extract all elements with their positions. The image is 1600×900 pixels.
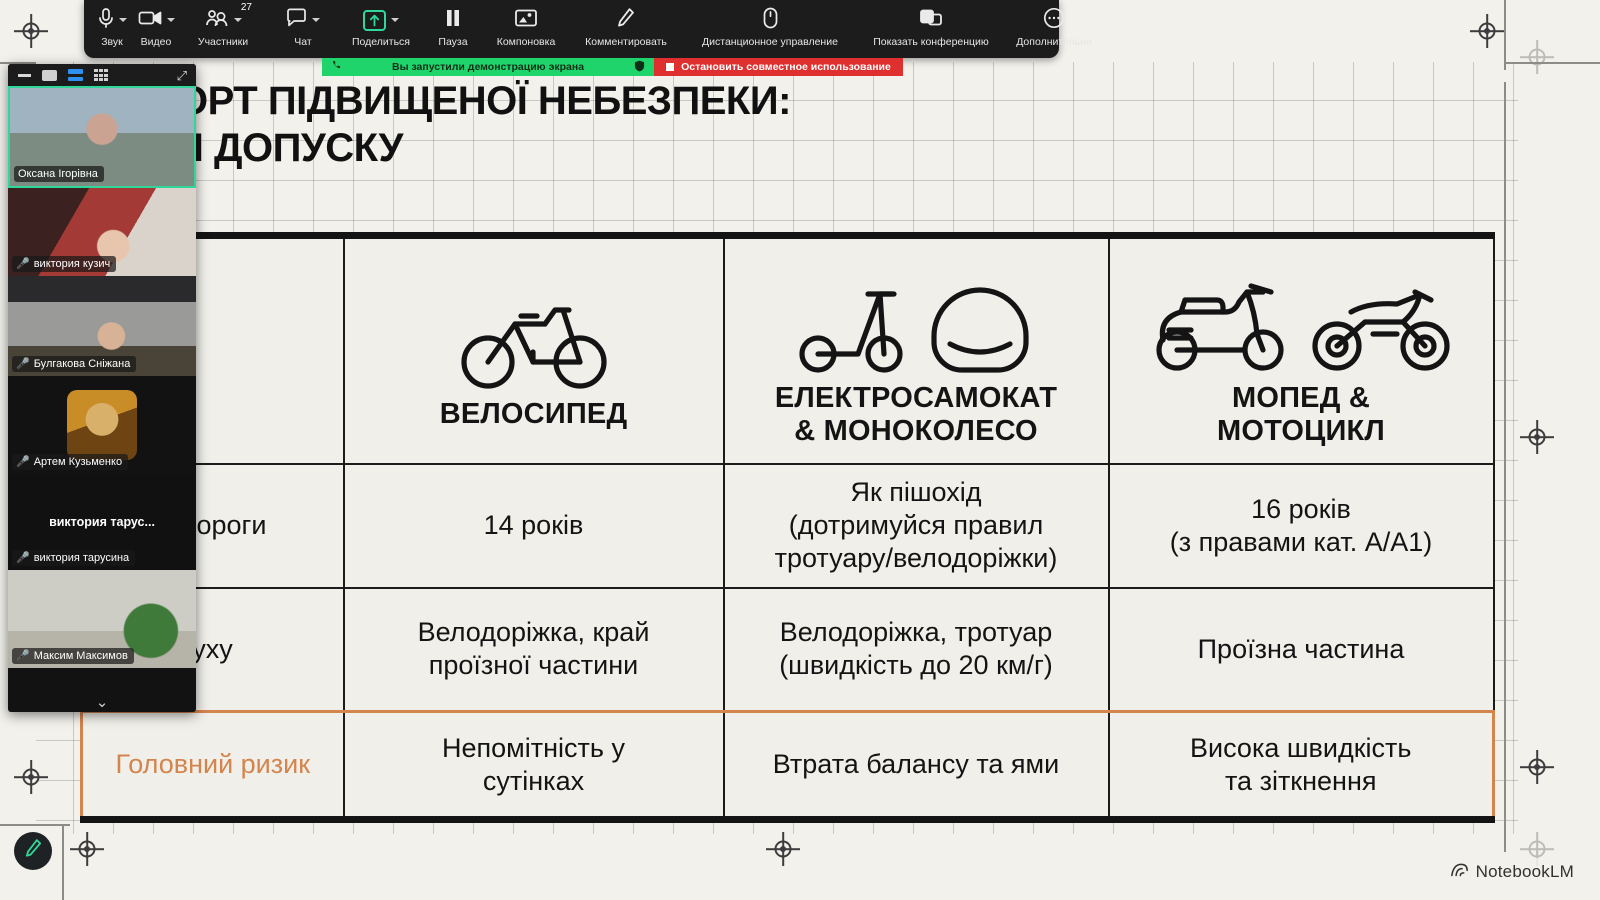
participant-name-chip: 🎤 виктория тарусина	[12, 550, 135, 566]
motorcycle-icon	[1311, 278, 1451, 374]
shared-screen-slide: НСПОРТ ПІДВИЩЕНОЇ НЕБЕЗПЕКИ: РИЦЯ ДОПУСК…	[0, 0, 1600, 900]
grid-view-icon[interactable]	[94, 69, 108, 81]
registration-mark-icon	[14, 760, 48, 794]
slide-rule	[1504, 0, 1506, 70]
meeting-toolbar: Звук Видео 27	[84, 0, 1059, 58]
toolbar-item-show-meeting[interactable]: Показать конференцию	[858, 4, 1004, 50]
participant-name: Булгакова Сніжана	[34, 358, 131, 370]
chevron-down-icon[interactable]	[391, 18, 399, 22]
stop-share-label: Остановить совместное использование	[681, 61, 891, 73]
participant-name-chip: 🎤 Максим Максимов	[12, 648, 134, 664]
toolbar-item-remote-control[interactable]: Дистанционное управление	[682, 4, 858, 50]
cell: Втрата балансу та ями	[724, 712, 1109, 820]
vehicle-matrix-table: ВЕЛОСИПЕД	[80, 232, 1495, 823]
participant-name-chip: 🎤 Артем Кузьменко	[12, 454, 128, 470]
cell: Велодоріжка, край проїзної частини	[344, 588, 724, 712]
table-header-row: ВЕЛОСИПЕД	[82, 236, 1494, 464]
cell: Велодоріжка, тротуар (швидкість до 20 км…	[724, 588, 1109, 712]
chevron-down-icon[interactable]	[312, 18, 320, 22]
mouse-icon	[763, 7, 778, 34]
participant-name: Максим Максимов	[34, 650, 128, 662]
registration-mark-icon	[1470, 14, 1504, 48]
participants-video-panel: ⤢ Оксана Ігорівна 🎤 виктория кузич 🎤 Бул…	[8, 64, 196, 712]
watermark-label: NotebookLM	[1476, 862, 1574, 882]
shield-icon[interactable]	[634, 60, 645, 75]
mic-muted-icon: 🎤	[16, 259, 30, 270]
participant-name-chip: Оксана Ігорівна	[14, 166, 104, 182]
participant-tile[interactable]: 🎤 Булгакова Сніжана	[8, 276, 196, 376]
participant-center-name: виктория тарус...	[8, 515, 196, 529]
registration-mark-icon	[70, 832, 104, 866]
cell: 16 років (з правами кат. A/A1)	[1109, 464, 1494, 588]
unicycle-icon	[924, 278, 1036, 374]
bicycle-icon	[355, 270, 713, 390]
participant-name: виктория тарусина	[34, 552, 129, 564]
registration-mark-icon	[1520, 750, 1554, 784]
participant-tile[interactable]: 🎤 виктория кузич	[8, 188, 196, 276]
share-status-text: Вы запустили демонстрацию экрана	[350, 61, 626, 73]
strip-view-icon[interactable]	[68, 69, 83, 81]
notebooklm-icon	[1450, 861, 1469, 883]
video-panel-header: ⤢	[8, 64, 196, 86]
share-screen-icon	[363, 10, 386, 31]
cell: Проїзна частина	[1109, 588, 1494, 712]
slide-rule	[1504, 82, 1506, 852]
chevron-down-icon[interactable]	[167, 18, 175, 22]
participant-tile[interactable]: 🎤 Максим Максимов	[8, 570, 196, 668]
chevron-down-icon[interactable]	[119, 18, 127, 22]
slide-rule	[62, 824, 64, 900]
participants-count-badge: 27	[241, 2, 252, 13]
pencil-icon	[616, 7, 636, 34]
chevron-down-icon[interactable]: ⌄	[8, 695, 196, 710]
slide-rule	[0, 824, 70, 826]
column-header-label: ЕЛЕКТРОСАМОКАТ & МОНОКОЛЕСО	[735, 382, 1098, 448]
toolbar-label: Комментировать	[585, 36, 667, 48]
toolbar-label: Участники	[198, 36, 248, 48]
more-ellipsis-icon	[1043, 7, 1065, 34]
avatar	[67, 390, 137, 460]
expand-icon[interactable]: ⤢	[177, 69, 187, 82]
toolbar-item-annotate[interactable]: Комментировать	[570, 4, 682, 50]
minimize-icon[interactable]	[18, 74, 31, 77]
cell: Як пішохід (дотримуйся правил тротуару/в…	[724, 464, 1109, 588]
toolbar-label: Дистанционное управление	[702, 36, 838, 48]
toolbar-item-layout[interactable]: Компоновка	[482, 4, 570, 50]
stop-share-button[interactable]: Остановить совместное использование	[654, 58, 903, 76]
participant-name-chip: 🎤 виктория кузич	[12, 256, 116, 272]
registration-mark-icon	[1520, 420, 1554, 454]
toolbar-label: Компоновка	[497, 36, 556, 48]
table-row-highlight: Головний ризик Непомітність у сутінках В…	[82, 712, 1494, 820]
screen: НСПОРТ ПІДВИЩЕНОЇ НЕБЕЗПЕКИ: РИЦЯ ДОПУСК…	[0, 0, 1600, 900]
participant-name-chip: 🎤 Булгакова Сніжана	[12, 356, 136, 372]
table-row: уху Велодоріжка, край проїзної частини В…	[82, 588, 1494, 712]
toolbar-item-participants[interactable]: 27 Участники	[178, 4, 268, 50]
toolbar-item-share[interactable]: Поделиться	[338, 4, 424, 50]
column-header-label: МОПЕД & МОТОЦИКЛ	[1120, 382, 1483, 448]
column-header-escooter: ЕЛЕКТРОСАМОКАТ & МОНОКОЛЕСО	[724, 236, 1109, 464]
toolbar-item-more[interactable]: Дополнительно	[1004, 4, 1104, 50]
registration-mark-icon	[766, 832, 800, 866]
cell: Непомітність у сутінках	[344, 712, 724, 820]
microphone-icon	[98, 7, 114, 34]
notebooklm-watermark: NotebookLM	[1442, 858, 1582, 886]
toolbar-label: Дополнительно	[1016, 36, 1092, 48]
pause-icon	[444, 8, 462, 33]
column-header-label: ВЕЛОСИПЕД	[355, 398, 713, 431]
toolbar-item-video[interactable]: Видео	[134, 4, 178, 50]
windows-icon	[919, 8, 943, 32]
toolbar-label: Чат	[294, 36, 311, 48]
mic-muted-icon: 🎤	[16, 553, 30, 564]
row-label-risk: Головний ризик	[82, 712, 344, 820]
mic-muted-icon: 🎤	[16, 457, 30, 468]
table-row: я дороги 14 років Як пішохід (дотримуйся…	[82, 464, 1494, 588]
cell: 14 років	[344, 464, 724, 588]
cell: Висока швидкість та зіткнення	[1109, 712, 1494, 820]
participant-tile[interactable]: Оксана Ігорівна	[8, 86, 196, 188]
participant-tile[interactable]: 🎤 Артем Кузьменко	[8, 376, 196, 474]
participant-tile[interactable]: виктория тарус... 🎤 виктория тарусина	[8, 474, 196, 570]
moped-icon	[1151, 278, 1291, 374]
camera-icon	[138, 9, 162, 32]
stop-square-icon	[666, 63, 674, 71]
registration-mark-icon	[1520, 40, 1554, 74]
toolbar-item-chat[interactable]: Чат	[268, 4, 338, 50]
mic-muted-icon: 🎤	[16, 359, 30, 370]
screen-share-banner: Вы запустили демонстрацию экрана Останов…	[322, 58, 903, 76]
slide-title: НСПОРТ ПІДВИЩЕНОЇ НЕБЕЗПЕКИ: РИЦЯ ДОПУСК…	[92, 78, 1212, 172]
e-scooter-icon	[796, 278, 904, 374]
single-view-icon[interactable]	[42, 70, 57, 81]
pencil-icon	[24, 838, 43, 864]
participant-name: Артем Кузьменко	[34, 456, 122, 468]
mic-muted-icon: 🎤	[16, 651, 30, 662]
toolbar-label: Показать конференцию	[873, 36, 989, 48]
slide-rule	[1504, 62, 1600, 64]
toolbar-label: Видео	[141, 36, 172, 48]
participant-name: Оксана Ігорівна	[18, 168, 98, 180]
column-header-bicycle: ВЕЛОСИПЕД	[344, 236, 724, 464]
phone-icon	[331, 60, 342, 74]
chevron-down-icon[interactable]	[234, 18, 242, 22]
share-status: Вы запустили демонстрацию экрана	[322, 58, 654, 76]
participant-name: виктория кузич	[34, 258, 111, 270]
toolbar-label: Звук	[101, 36, 123, 48]
chat-bubble-icon	[286, 8, 307, 32]
toolbar-label: Поделиться	[352, 36, 410, 48]
registration-mark-icon	[14, 14, 48, 48]
layout-icon	[514, 8, 538, 33]
toolbar-item-audio[interactable]: Звук	[90, 4, 134, 50]
annotate-floating-button[interactable]	[14, 832, 52, 870]
toolbar-label: Пауза	[438, 36, 467, 48]
column-header-moped: МОПЕД & МОТОЦИКЛ	[1109, 236, 1494, 464]
participants-icon	[205, 8, 229, 33]
toolbar-item-pause[interactable]: Пауза	[424, 4, 482, 50]
